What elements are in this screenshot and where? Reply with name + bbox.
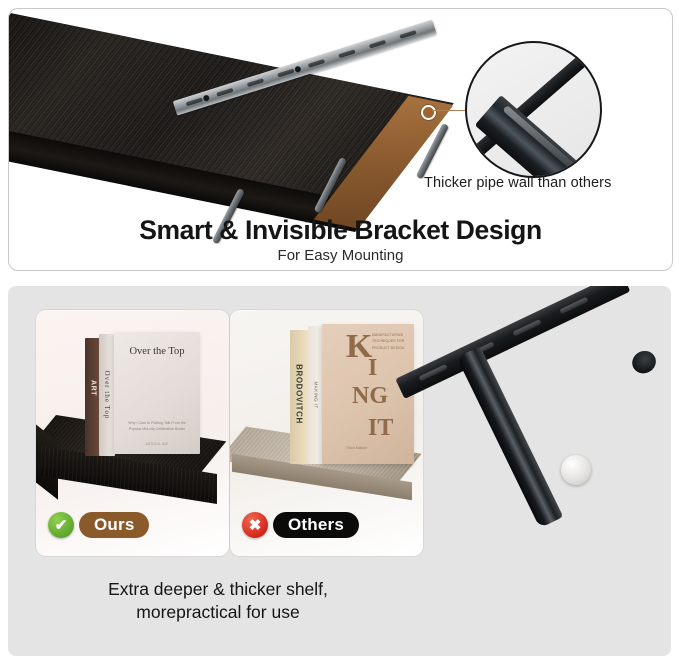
rubber-stopper [561, 455, 591, 485]
book-spine-making-it: MAKING IT [308, 326, 323, 464]
book-spine-art: ART [85, 338, 100, 456]
cross-icon: ✖ [242, 512, 268, 538]
ours-badge-label: Ours [79, 512, 149, 538]
book-letter-ng: NG [352, 384, 388, 408]
comparison-caption: Extra deeper & thicker shelf, morepracti… [18, 578, 418, 624]
ours-badge-row: ✔ Ours [48, 512, 149, 538]
callout-anchor-dot-pipe [421, 105, 436, 120]
book-letter-i: I [368, 356, 377, 380]
thicker-pipe-callout-text: Thicker pipe wall than others [424, 175, 654, 191]
book-title-text: Over the Top [114, 346, 200, 357]
others-photo-card: BRODOVITCH MAKING IT MANUFACTURING TECHN… [230, 310, 423, 556]
panel-headline: Smart & Invisible Bracket Design [9, 215, 672, 246]
check-icon: ✔ [48, 512, 74, 538]
bracket-round-rod [457, 346, 564, 528]
comparison-panel: ART Over the Top Over the Top Why I Care… [8, 286, 671, 656]
book-cover-making-it: MANUFACTURING TECHNIQUES FOR PRODUCT DES… [322, 324, 414, 464]
others-badge-label: Others [273, 512, 359, 538]
book-cover-over-the-top: Over the Top Why I Care to Flatting Talk… [114, 332, 200, 454]
book-letter-it: IT [368, 416, 393, 440]
bracket-product-photo [418, 286, 671, 586]
book-edition-text: Third Edition [346, 446, 367, 450]
pipe-wall-magnifier-inset [465, 41, 602, 178]
book-small-print: MANUFACTURING TECHNIQUES FOR PRODUCT DES… [372, 332, 410, 351]
bracket-rod-end-cap [628, 347, 659, 377]
smart-bracket-panel: Thicker pipe wall than others Smart & In… [8, 8, 673, 271]
panel-subheadline: For Easy Mounting [9, 247, 672, 264]
book-subtitle-text: Why I Care to Flatting Talk From the Pop… [124, 420, 190, 432]
comparison-caption-line-1: Extra deeper & thicker shelf, [18, 578, 418, 601]
others-badge-row: ✖ Others [242, 512, 359, 538]
ours-photo-card: ART Over the Top Over the Top Why I Care… [36, 310, 229, 556]
comparison-caption-line-2: morepractical for use [18, 601, 418, 624]
book-spine-over-the-top: Over the Top [99, 334, 115, 456]
book-spine-brodovitch: BRODOVITCH [290, 330, 308, 464]
shelf-bracket-illustration [9, 9, 489, 214]
book-publisher-text: ASSOULINE [114, 442, 200, 446]
bracket-flat-bar [395, 286, 630, 399]
